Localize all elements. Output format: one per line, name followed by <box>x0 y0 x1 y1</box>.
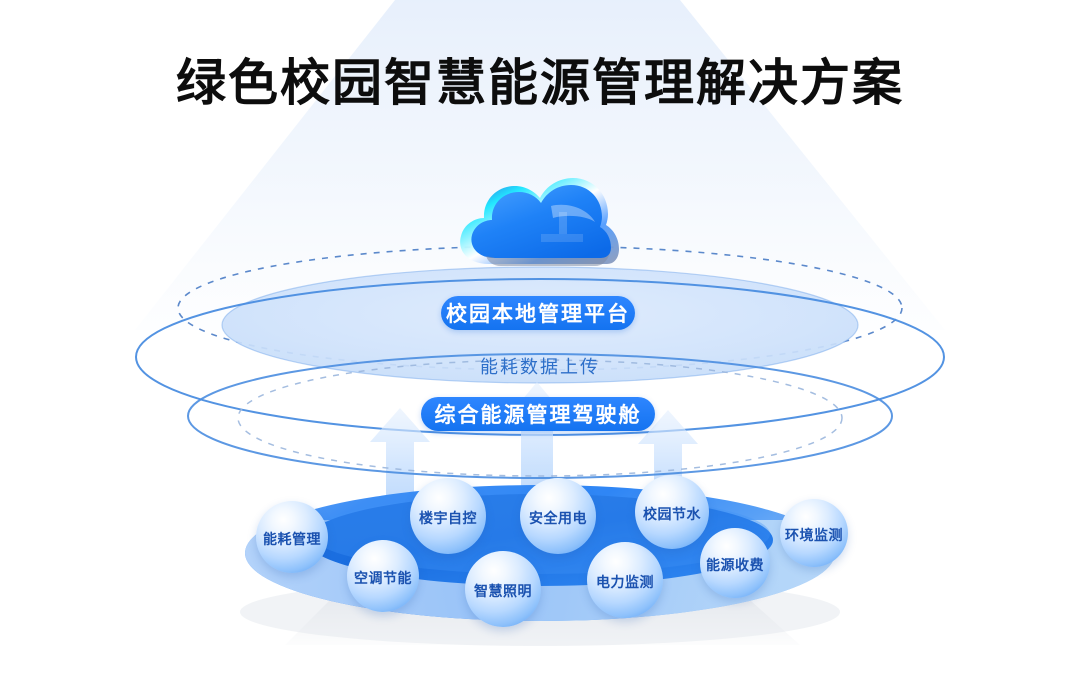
node-sphere[interactable]: 楼宇自控 <box>410 478 486 554</box>
node-sphere[interactable]: 电力监测 <box>587 542 663 618</box>
node-sphere[interactable]: 能源收费 <box>700 528 770 598</box>
diagram-canvas: 绿色校园智慧能源管理解决方案 校园本地管理平台 能耗数据上传 综合能源管理驾驶舱… <box>0 0 1080 683</box>
node-label: 空调节能 <box>354 568 412 588</box>
node-label: 校园节水 <box>643 504 701 524</box>
node-label: 环境监测 <box>785 525 843 545</box>
node-label: 智慧照明 <box>474 581 532 601</box>
node-sphere[interactable]: 安全用电 <box>520 478 596 554</box>
label-cockpit: 综合能源管理驾驶舱 <box>421 397 655 431</box>
node-label: 能耗管理 <box>263 529 321 549</box>
node-label: 能源收费 <box>706 555 764 575</box>
node-sphere[interactable]: 环境监测 <box>780 499 848 567</box>
label-upload: 能耗数据上传 <box>0 353 1080 379</box>
label-cockpit-text: 综合能源管理驾驶舱 <box>435 399 642 429</box>
node-label: 安全用电 <box>529 508 587 528</box>
node-sphere[interactable]: 能耗管理 <box>256 501 328 573</box>
node-sphere[interactable]: 空调节能 <box>347 540 419 612</box>
node-label: 楼宇自控 <box>419 508 477 528</box>
label-platform-text: 校园本地管理平台 <box>446 298 630 328</box>
node-sphere[interactable]: 智慧照明 <box>465 551 541 627</box>
page-title: 绿色校园智慧能源管理解决方案 <box>0 52 1080 114</box>
node-label: 电力监测 <box>596 572 654 592</box>
label-platform: 校园本地管理平台 <box>441 296 635 330</box>
node-sphere[interactable]: 校园节水 <box>635 475 709 549</box>
